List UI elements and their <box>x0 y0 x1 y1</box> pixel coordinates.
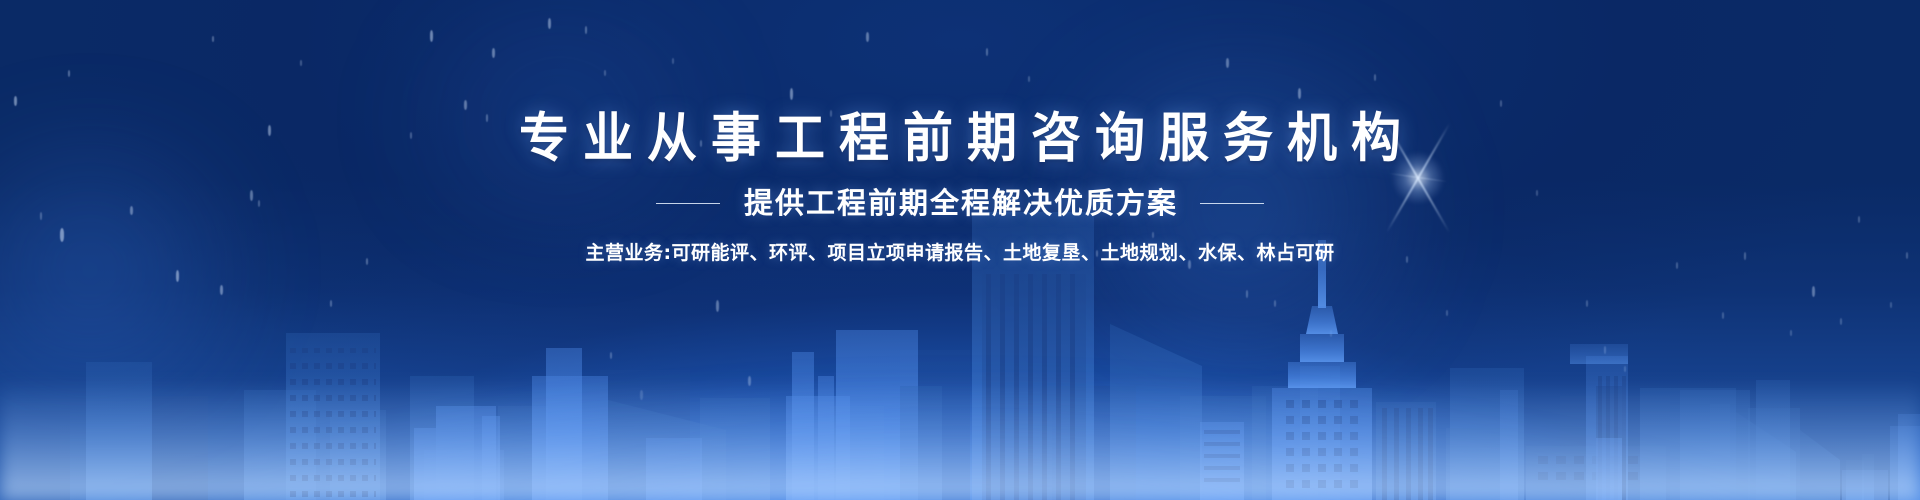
star-particle <box>220 285 223 295</box>
star-particle <box>1722 312 1724 319</box>
star-particle <box>1604 346 1606 354</box>
banner-subtitle-row: 提供工程前期全程解决优质方案 <box>0 189 1920 218</box>
star-particle <box>176 270 179 282</box>
star-particle <box>1624 366 1626 372</box>
star-particle <box>1586 300 1588 307</box>
banner-services-line: 主营业务:可研能评、环评、项目立项申请报告、土地复垦、土地规划、水保、林占可研 <box>0 244 1920 263</box>
star-particle <box>1446 310 1448 316</box>
star-particle <box>1840 318 1842 325</box>
banner-content: 专业从事工程前期咨询服务机构 提供工程前期全程解决优质方案 主营业务:可研能评、… <box>0 0 1920 263</box>
star-particle <box>716 300 719 312</box>
star-particle <box>1676 262 1678 269</box>
star-particle <box>1274 300 1276 307</box>
star-particle <box>1890 302 1892 308</box>
bottom-fade <box>0 380 1920 500</box>
rule-left-icon <box>656 203 720 204</box>
banner-title: 专业从事工程前期咨询服务机构 <box>0 112 1920 165</box>
star-particle <box>1246 290 1248 298</box>
star-particle <box>1812 286 1815 297</box>
banner-subtitle: 提供工程前期全程解决优质方案 <box>742 189 1178 218</box>
rule-right-icon <box>1200 203 1264 204</box>
star-particle <box>1790 330 1792 336</box>
hero-banner: 专业从事工程前期咨询服务机构 提供工程前期全程解决优质方案 主营业务:可研能评、… <box>0 0 1920 500</box>
star-particle <box>330 300 332 307</box>
